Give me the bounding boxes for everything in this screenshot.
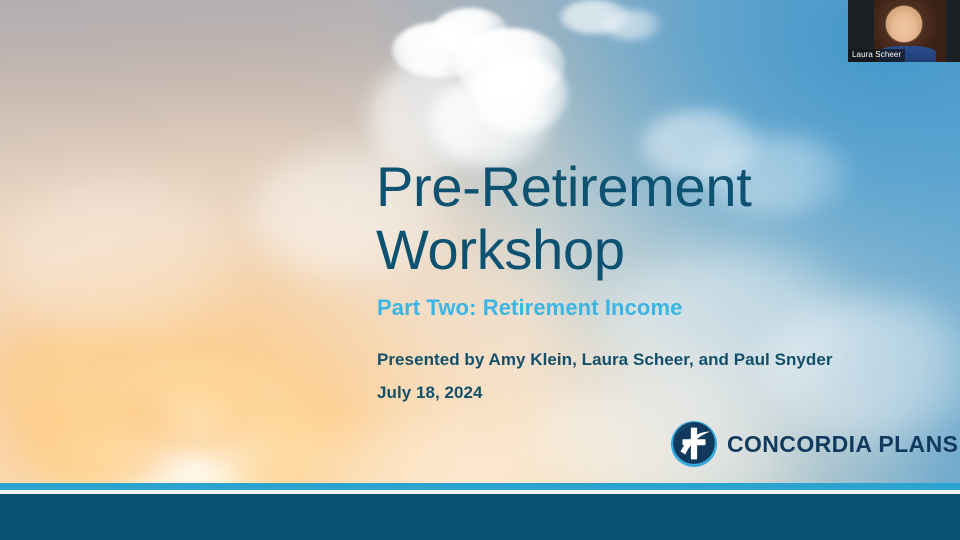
video-letterbox-right	[946, 0, 960, 62]
slide-presenters: Presented by Amy Klein, Laura Scheer, an…	[377, 350, 833, 370]
slide-subtitle: Part Two: Retirement Income	[377, 295, 682, 321]
footer-band	[0, 494, 960, 540]
slide-title: Pre-Retirement Workshop	[376, 155, 916, 282]
concordia-plans-wordmark: CONCORDIA PLANS	[727, 431, 958, 458]
participant-name-label: Laura Scheer	[848, 49, 905, 62]
concordia-plans-logo: CONCORDIA PLANS	[670, 420, 958, 468]
video-participant-tile[interactable]: Laura Scheer	[848, 0, 960, 62]
concordia-plans-cross-emblem-icon	[670, 420, 718, 468]
slide-date: July 18, 2024	[377, 383, 483, 403]
presentation-slide: Pre-Retirement Workshop Part Two: Retire…	[0, 0, 960, 540]
accent-stripe-cyan	[0, 483, 960, 490]
